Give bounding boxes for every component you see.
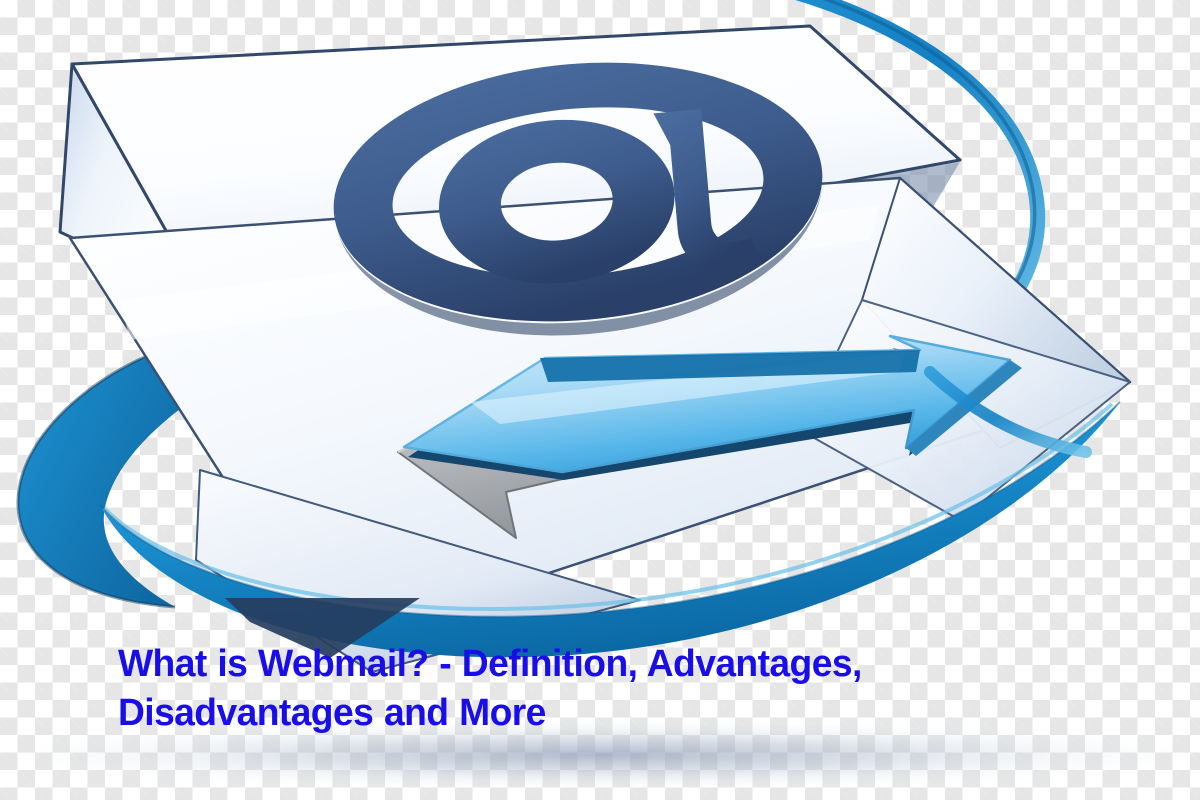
orbit-swoosh-back [18,330,276,607]
receive-arrow [398,352,940,538]
send-arrow [404,336,1022,480]
page-title: What is Webmail? - Definition, Advantage… [118,640,1108,739]
envelope [60,26,1130,672]
page-title-line-1: What is Webmail? - Definition, Advantage… [118,640,1108,689]
image-canvas: What is Webmail? - Definition, Advantage… [0,0,1200,800]
orbit-ribbon-tail [930,372,1086,452]
orbit-swoosh-front [100,402,1120,657]
orbit-ribbon-back [597,0,1038,372]
page-title-line-2: Disadvantages and More [118,689,1108,738]
at-symbol [323,43,835,355]
